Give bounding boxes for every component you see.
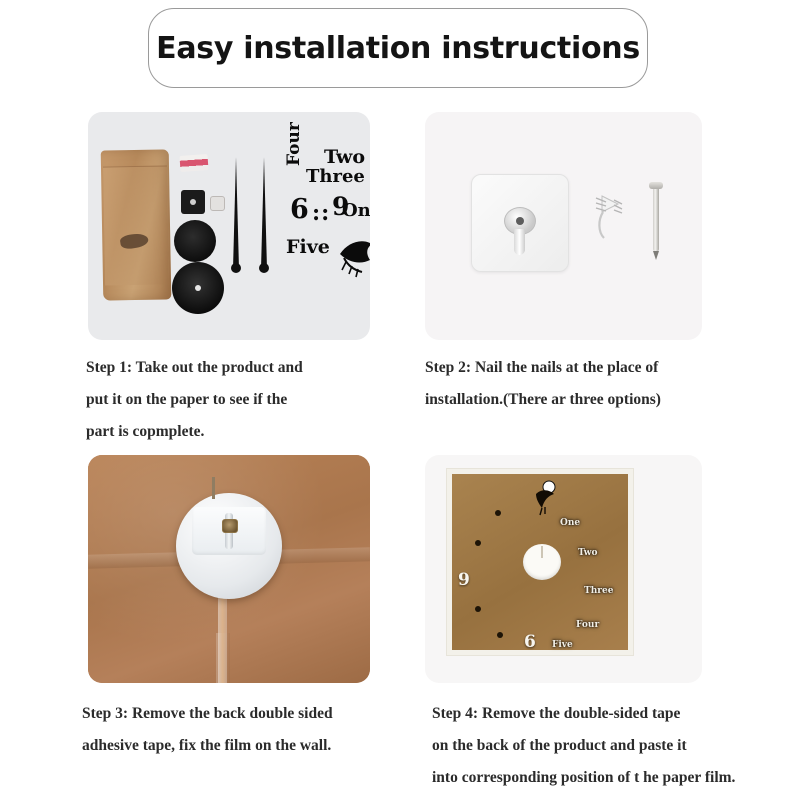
template-label-nine: 9 — [458, 570, 470, 590]
paper-template: One Two Three Four Five 6 9 — [452, 474, 628, 650]
white-clock-mechanism-icon — [176, 493, 282, 599]
step-2-caption: Step 2: Nail the nails at the place of i… — [425, 352, 735, 416]
step-4-image: One Two Three Four Five 6 9 — [425, 455, 702, 683]
caption-line: Step 2: Nail the nails at the place of — [425, 352, 735, 384]
black-square-mechanism-icon — [181, 190, 205, 214]
large-black-disc-icon — [172, 262, 224, 314]
template-label-two: Two — [578, 548, 597, 558]
step-2-image — [425, 112, 702, 340]
number-words-group: Two Four Three 6 :: 9 One Five — [284, 142, 370, 304]
word-six: 6 — [290, 196, 309, 223]
alignment-dot — [497, 632, 503, 638]
step-1-caption: Step 1: Take out the product and put it … — [86, 352, 386, 448]
page-title-box: Easy installation instructions — [148, 8, 648, 88]
clock-hand-hour-icon — [233, 157, 239, 269]
caption-line: part is copmplete. — [86, 416, 386, 448]
template-label-one: One — [560, 518, 580, 528]
caption-line: Step 4: Remove the double-sided tape — [432, 698, 782, 730]
caption-line: adhesive tape, fix the film on the wall. — [82, 730, 392, 762]
template-label-six: 6 — [524, 632, 536, 652]
caption-line: Step 3: Remove the back double sided — [82, 698, 392, 730]
nail-tip — [653, 251, 659, 260]
alignment-dot — [475, 606, 481, 612]
witch-silhouette-icon — [336, 224, 370, 278]
word-two: Two — [324, 148, 365, 167]
white-nut-icon — [210, 196, 225, 211]
word-three: Three — [306, 168, 365, 186]
caption-line: put it on the paper to see if the — [86, 384, 386, 416]
mechanism-plate — [192, 507, 266, 555]
template-label-three: Three — [584, 586, 613, 596]
alignment-dot — [475, 540, 481, 546]
nail-head — [649, 182, 663, 189]
word-four: Four — [286, 122, 303, 166]
word-one: One — [342, 202, 370, 220]
center-hole — [523, 544, 561, 580]
caption-line: into corresponding position of t he pape… — [432, 762, 782, 794]
hook-stem — [514, 229, 525, 255]
adhesive-wall-hook-icon — [471, 174, 569, 272]
word-dots: :: — [312, 202, 330, 224]
step-4-caption: Step 4: Remove the double-sided tape on … — [432, 698, 782, 794]
witch-silhouette-icon — [530, 480, 560, 516]
pink-label-sticker-icon — [179, 154, 208, 172]
double-sided-tape-strip-icon — [218, 595, 227, 683]
mechanism-screw — [222, 519, 238, 533]
picture-hanger-hook-icon — [592, 190, 626, 246]
step-1-image: Two Four Three 6 :: 9 One Five — [88, 112, 370, 340]
long-nail-icon — [653, 186, 659, 252]
step-3-caption: Step 3: Remove the back double sided adh… — [82, 698, 392, 762]
page-title: Easy installation instructions — [156, 31, 640, 66]
alignment-dot — [495, 510, 501, 516]
step-3-image — [88, 455, 370, 683]
small-black-disc-icon — [174, 220, 216, 262]
word-five: Five — [286, 238, 330, 257]
mounting-screw-shaft — [212, 477, 215, 499]
kraft-fold — [103, 165, 169, 285]
clock-hand-minute-icon — [261, 157, 267, 269]
template-mat: One Two Three Four Five 6 9 — [447, 469, 633, 655]
kraft-paper-roll-icon — [101, 149, 172, 300]
template-label-five: Five — [552, 640, 573, 650]
template-label-four: Four — [576, 620, 599, 630]
caption-line: on the back of the product and paste it — [432, 730, 782, 762]
caption-line: installation.(There ar three options) — [425, 384, 735, 416]
caption-line: Step 1: Take out the product and — [86, 352, 386, 384]
